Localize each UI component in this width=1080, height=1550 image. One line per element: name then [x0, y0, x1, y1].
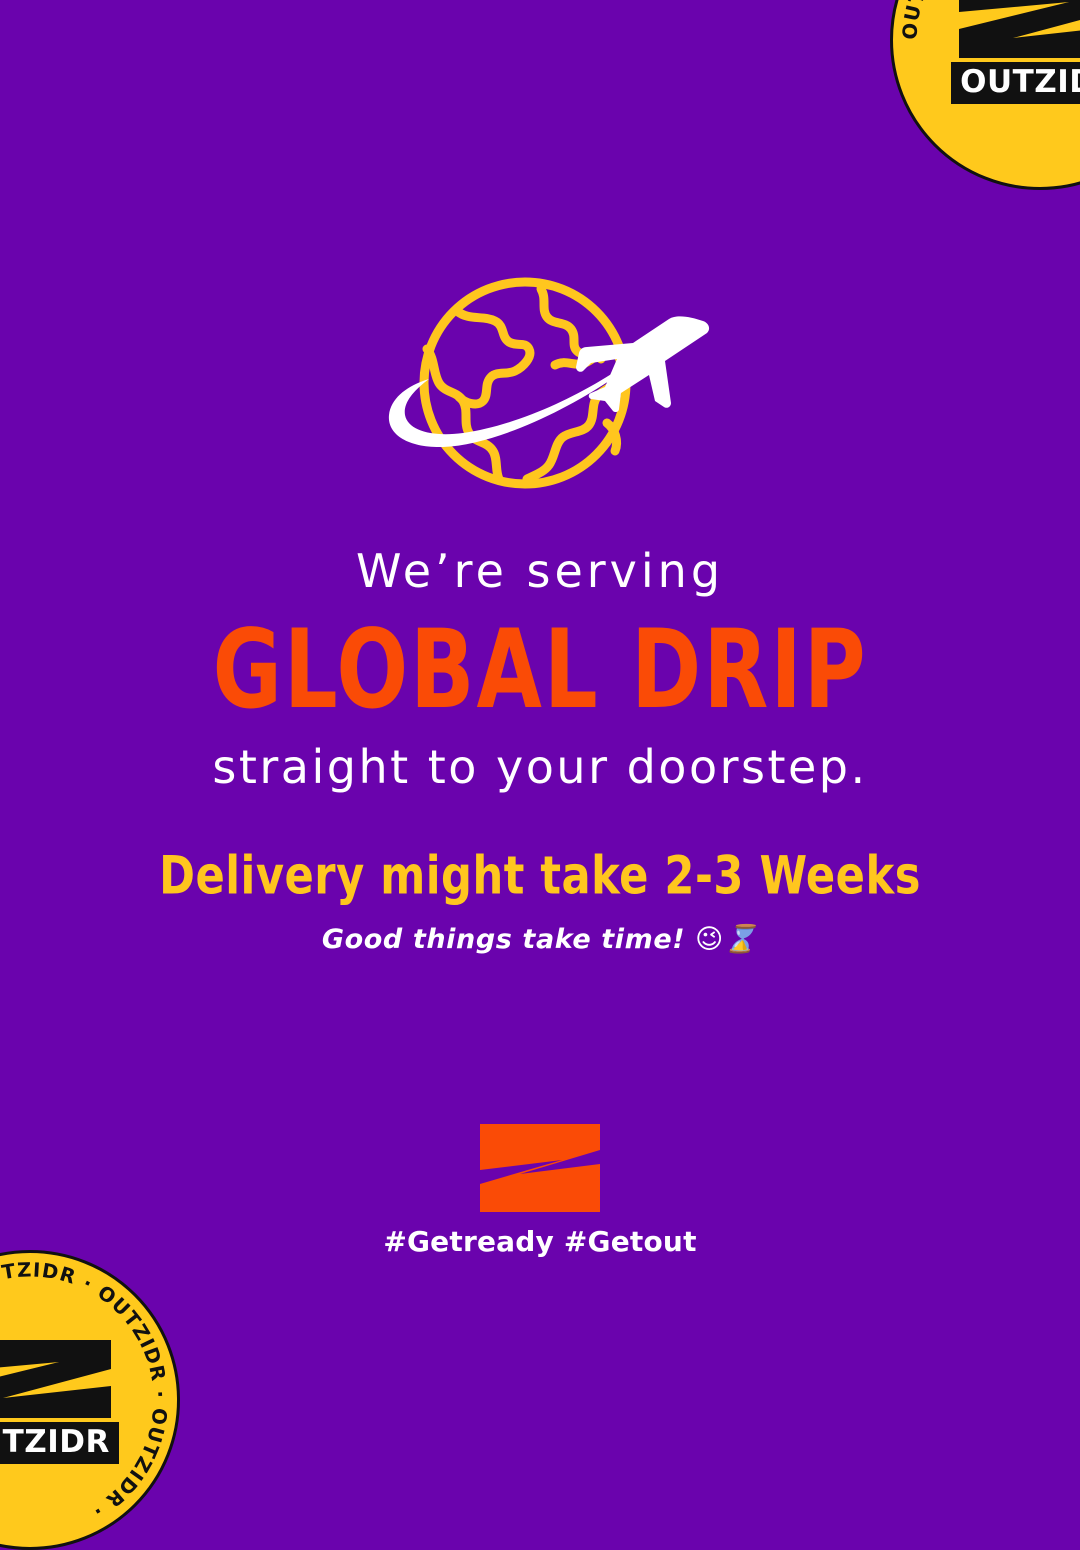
reassurance-text: Good things take time! 😉⌛	[322, 926, 758, 953]
brand-lockup: #Getready #Getout	[0, 1122, 1080, 1256]
globe-airplane-icon	[365, 275, 715, 500]
hashtags-text: #Getready #Getout	[383, 1228, 696, 1256]
delivery-notice-text: Delivery might take 2-3 Weeks	[159, 850, 921, 903]
subline-text: straight to your doorstep.	[212, 744, 867, 790]
z-logo-icon	[478, 1122, 602, 1214]
headline-text: GLOBAL DRIP	[212, 616, 867, 725]
eyebrow-text: We’re serving	[356, 548, 724, 594]
